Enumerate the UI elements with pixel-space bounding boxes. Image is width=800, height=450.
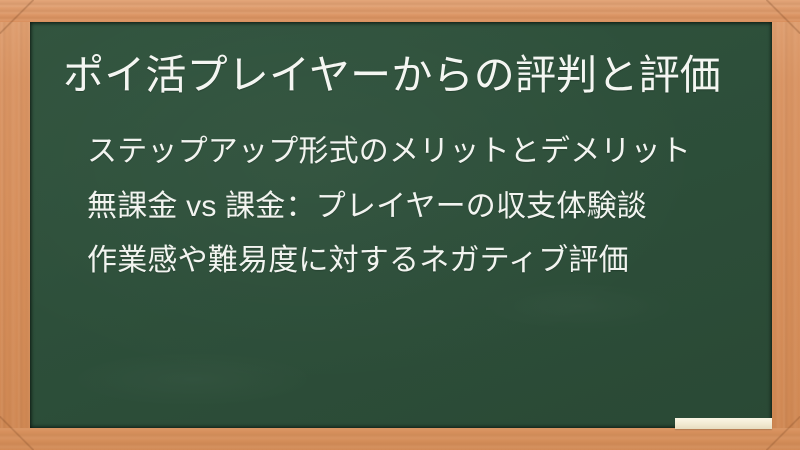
frame-rail-bottom [0, 428, 800, 450]
bullet-item-2: 無課金 vs 課金：プレイヤーの収支体験談 [87, 180, 691, 235]
chalkboard-slide: ポイ活プレイヤーからの評判と評価 ステップアップ形式のメリットとデメリット 無課… [0, 0, 800, 450]
slide-bullet-list: ステップアップ形式のメリットとデメリット 無課金 vs 課金：プレイヤーの収支体… [87, 125, 691, 289]
bullet-item-3: 作業感や難易度に対するネガティブ評価 [87, 234, 691, 289]
frame-rail-top [0, 0, 800, 22]
bullet-item-1: ステップアップ形式のメリットとデメリット [87, 125, 691, 180]
frame-miter-top-left [0, 0, 34, 34]
chalkboard-surface: ポイ活プレイヤーからの評判と評価 ステップアップ形式のメリットとデメリット 無課… [30, 22, 772, 428]
frame-miter-bottom-left [0, 416, 34, 450]
chalk-stick-icon [675, 418, 772, 429]
slide-title: ポイ活プレイヤーからの評判と評価 [63, 50, 721, 100]
